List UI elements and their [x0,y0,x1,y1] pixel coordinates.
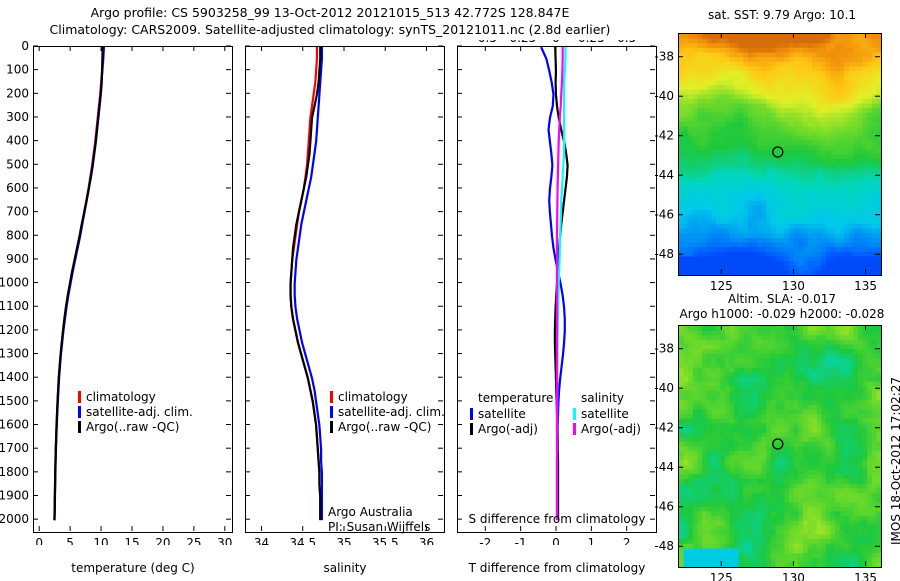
svg-text:5: 5 [66,536,74,545]
svg-text:-40: -40 [654,89,674,103]
legend-item-argo-raw: Argo(..raw -QC) [78,419,193,434]
svg-text:0.25: 0.25 [578,40,605,45]
legend-item-satellite-adj: satellite-adj. clim. [78,404,193,419]
legend-item-climatology: climatology [78,389,193,404]
salinity-axis-label: salinity [245,561,445,575]
sst-map-axis-ticks: 125130135-38-40-42-44-46-48 [648,27,900,297]
argo-australia-note: Argo Australia PI: Susan Wijffels [328,505,430,535]
svg-text:1900: 1900 [0,489,29,503]
svg-text:1200: 1200 [0,323,29,337]
svg-text:35.5: 35.5 [372,536,399,545]
svg-text:0: 0 [552,40,560,45]
svg-text:500: 500 [6,157,29,171]
svg-text:-2: -2 [479,536,491,545]
legend-item-s-satellite: satellite [573,406,641,421]
legend-label-argo-raw: Argo(..raw -QC) [86,420,179,434]
svg-text:1800: 1800 [0,465,29,479]
legend-item-t-satellite: satellite [470,406,553,421]
sst-map-title: sat. SST: 9.79 Argo: 10.1 [672,8,892,23]
legend-label-argo-raw-sal: Argo(..raw -QC) [338,420,431,434]
svg-text:-42: -42 [654,129,674,143]
svg-text:200: 200 [6,86,29,100]
svg-text:135: 135 [854,279,877,293]
legend-swatch-climatology-sal [330,391,333,403]
legend-label-satellite-adj: satellite-adj. clim. [86,405,193,419]
svg-text:900: 900 [6,252,29,266]
legend-label-climatology-sal: climatology [338,390,408,404]
svg-text:1500: 1500 [0,394,29,408]
svg-text:0.5: 0.5 [617,40,636,45]
svg-text:2: 2 [623,536,631,545]
sla-title-line1: Altim. SLA: -0.017 [672,292,892,307]
svg-text:25: 25 [186,536,201,545]
svg-text:2000: 2000 [0,512,29,526]
svg-text:130: 130 [782,279,805,293]
svg-text:-44: -44 [654,168,674,182]
legend-item-t-argo-adj: Argo(-adj) [470,421,553,436]
svg-text:-38: -38 [654,342,674,356]
svg-text:700: 700 [6,205,29,219]
legend-header-temperature: temperature [470,391,553,406]
svg-text:-48: -48 [654,247,674,261]
legend-swatch-argo-raw-sal [330,421,333,433]
svg-text:-38: -38 [654,50,674,64]
temperature-axis-label: temperature (deg C) [33,561,233,575]
legend-swatch-satellite-adj-sal [330,406,333,418]
figure-title: Argo profile: CS 5903258_99 13-Oct-2012 … [0,4,660,38]
svg-text:-48: -48 [654,539,674,553]
svg-text:0: 0 [21,40,29,53]
difference-legend-salinity: salinity satellite Argo(-adj) [573,391,641,436]
legend-swatch-satellite-adj [78,406,81,418]
svg-text:100: 100 [6,63,29,77]
svg-text:-44: -44 [654,460,674,474]
svg-text:400: 400 [6,134,29,148]
svg-text:300: 300 [6,110,29,124]
svg-text:800: 800 [6,228,29,242]
temperature-legend: climatology satellite-adj. clim. Argo(..… [78,389,193,434]
argo-australia-line2: PI: Susan Wijffels [328,520,430,535]
svg-text:35: 35 [336,536,351,545]
legend-label-t-argo-adj: Argo(-adj) [478,422,538,436]
svg-text:0: 0 [552,536,560,545]
svg-text:-0.5: -0.5 [474,40,497,45]
legend-swatch-t-satellite [470,408,473,420]
svg-text:-1: -1 [515,536,527,545]
argo-australia-line1: Argo Australia [328,505,430,520]
svg-text:34: 34 [254,536,269,545]
legend-item-s-argo-adj: Argo(-adj) [573,421,641,436]
svg-text:1400: 1400 [0,370,29,384]
svg-text:600: 600 [6,181,29,195]
svg-text:10: 10 [93,536,108,545]
svg-text:125: 125 [710,279,733,293]
difference-legend-temperature: temperature satellite Argo(-adj) [470,391,553,436]
title-line-2: Climatology: CARS2009. Satellite-adjuste… [0,21,660,38]
svg-text:1700: 1700 [0,441,29,455]
svg-text:1000: 1000 [0,276,29,290]
legend-label-s-argo-adj: Argo(-adj) [581,422,641,436]
svg-text:-46: -46 [654,208,674,222]
legend-swatch-s-argo-adj [573,423,576,435]
svg-text:-40: -40 [654,381,674,395]
svg-text:1: 1 [588,536,596,545]
legend-label-t-satellite: satellite [478,407,526,421]
s-difference-axis-label: S difference from climatology [457,512,657,526]
legend-swatch-climatology [78,391,81,403]
svg-text:1600: 1600 [0,418,29,432]
argo-profile-figure: Argo profile: CS 5903258_99 13-Oct-2012 … [0,0,900,580]
legend-label-s-satellite: satellite [581,407,629,421]
sla-map-title: Altim. SLA: -0.017 Argo h1000: -0.029 h2… [672,292,892,322]
legend-swatch-t-argo-adj [470,423,473,435]
svg-text:1300: 1300 [0,347,29,361]
svg-text:20: 20 [155,536,170,545]
legend-swatch-s-satellite [573,408,576,420]
legend-header-salinity: salinity [573,391,641,406]
svg-text:-42: -42 [654,421,674,435]
svg-text:34.5: 34.5 [289,536,316,545]
svg-text:0: 0 [35,536,43,545]
sla-map-axis-ticks: 125130135-38-40-42-44-46-48 [648,319,900,581]
svg-text:15: 15 [124,536,139,545]
temperature-axis-ticks: 0100200300400500600700800900100011001200… [0,40,245,545]
title-line-1: Argo profile: CS 5903258_99 13-Oct-2012 … [0,4,660,21]
t-difference-axis-label: T difference from climatology [457,561,657,575]
legend-label-climatology: climatology [86,390,156,404]
legend-swatch-argo-raw [78,421,81,433]
svg-text:-0.25: -0.25 [505,40,536,45]
svg-text:1100: 1100 [0,299,29,313]
imos-timestamp: IMOS 18-Oct-2012 17:02:27 [889,377,900,545]
svg-text:-46: -46 [654,500,674,514]
